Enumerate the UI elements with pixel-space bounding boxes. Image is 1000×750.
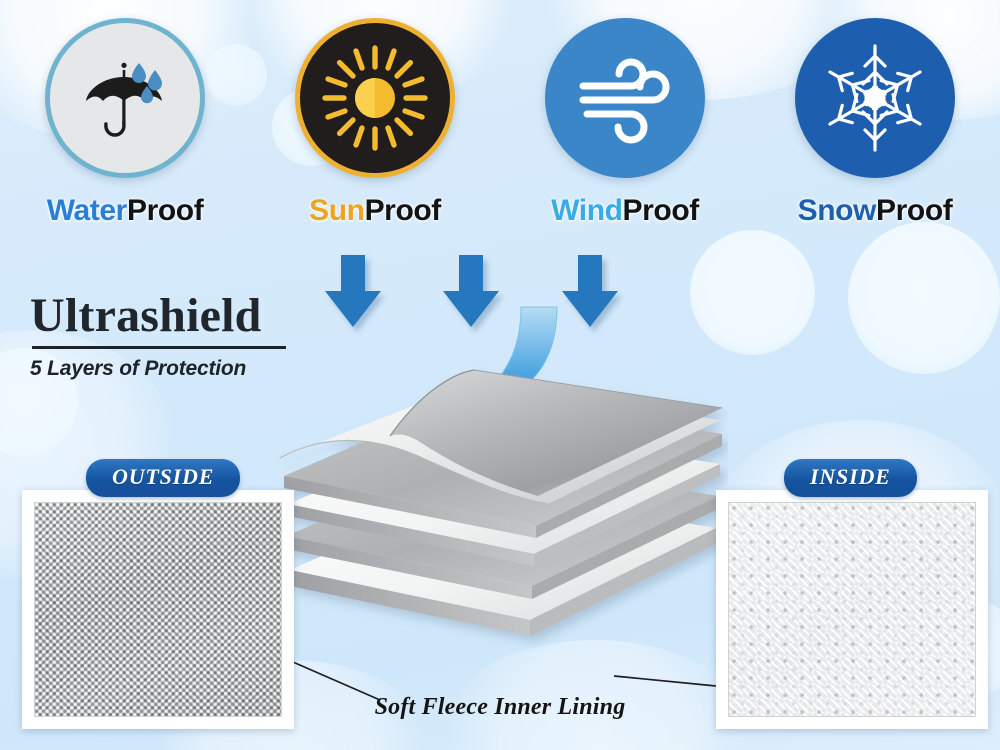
inside-label-text: INSIDE	[810, 464, 891, 489]
inside-fabric-swatch	[728, 502, 976, 717]
outside-label-pill: OUTSIDE	[86, 459, 240, 497]
fleece-lining-caption: Soft Fleece Inner Lining	[0, 694, 1000, 721]
outside-fabric-swatch	[34, 502, 282, 717]
ultrashield-infographic: WaterProof	[0, 0, 1000, 750]
inside-label-pill: INSIDE	[784, 459, 917, 497]
leader-line-inside	[614, 676, 716, 686]
outside-label-text: OUTSIDE	[112, 464, 214, 489]
